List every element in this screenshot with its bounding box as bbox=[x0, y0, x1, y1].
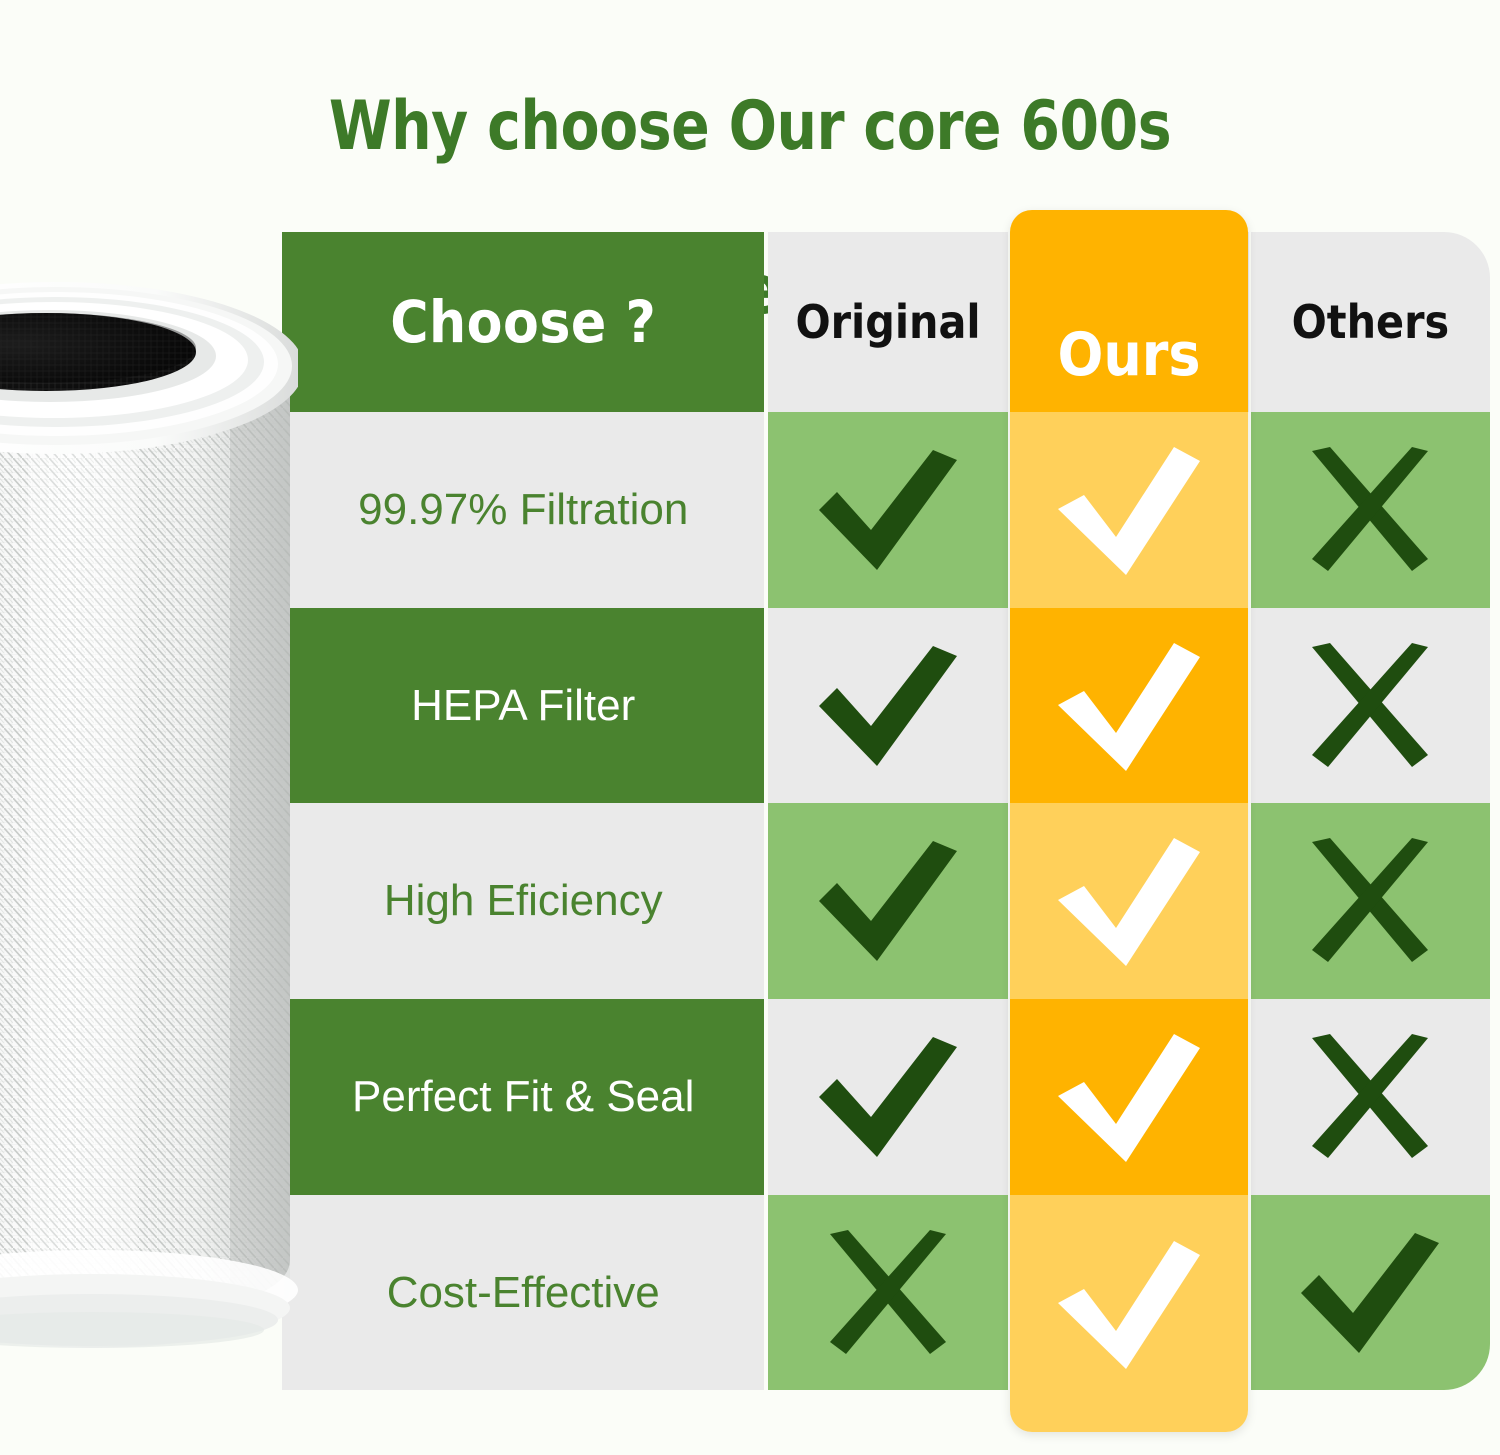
table-row: HEPA Filter bbox=[282, 608, 1490, 803]
check-icon bbox=[1295, 1229, 1445, 1357]
header-label-choose: Choose ? bbox=[390, 288, 656, 356]
check-icon bbox=[813, 642, 963, 770]
cell-others bbox=[1251, 803, 1490, 999]
highlight-column-ours: Ours bbox=[1010, 210, 1248, 1432]
ours-cell bbox=[1010, 608, 1248, 803]
ours-header-cell: Ours bbox=[1010, 210, 1248, 412]
cell-others bbox=[1251, 1195, 1490, 1390]
check-icon bbox=[1054, 834, 1204, 968]
table-row: High Eficiency bbox=[282, 803, 1490, 999]
cross-icon bbox=[1300, 641, 1440, 771]
check-icon bbox=[1054, 1237, 1204, 1371]
check-icon bbox=[1054, 443, 1204, 577]
product-image-hepa-filter bbox=[0, 248, 298, 1396]
header-label-original: Original bbox=[795, 295, 980, 349]
cell-others bbox=[1251, 412, 1490, 608]
cell-others bbox=[1251, 999, 1490, 1195]
table-row: Perfect Fit & Seal bbox=[282, 999, 1490, 1195]
row-label-cell: 99.97% Filtration bbox=[282, 412, 764, 608]
cell-original bbox=[768, 608, 1007, 803]
row-label-cell: Cost-Effective bbox=[282, 1195, 764, 1390]
cross-icon bbox=[1300, 1032, 1440, 1162]
cross-icon bbox=[1300, 445, 1440, 575]
cross-icon bbox=[1300, 836, 1440, 966]
ours-cell bbox=[1010, 999, 1248, 1195]
check-icon bbox=[1054, 639, 1204, 773]
row-label: 99.97% Filtration bbox=[358, 485, 688, 535]
cross-icon bbox=[818, 1228, 958, 1358]
table-row: Cost-Effective bbox=[282, 1195, 1490, 1390]
row-label: Cost-Effective bbox=[387, 1268, 660, 1318]
row-label: HEPA Filter bbox=[411, 681, 635, 731]
table-header-row: Choose ? Original Others bbox=[282, 232, 1490, 412]
ours-cell bbox=[1010, 1195, 1248, 1432]
header-label-others: Others bbox=[1292, 295, 1450, 349]
cell-others bbox=[1251, 608, 1490, 803]
check-icon bbox=[813, 837, 963, 965]
header-cell-others: Others bbox=[1251, 232, 1490, 412]
header-cell-original: Original bbox=[768, 232, 1007, 412]
check-icon bbox=[813, 446, 963, 574]
header-cell-choose: Choose ? bbox=[282, 232, 764, 412]
check-icon bbox=[1054, 1030, 1204, 1164]
ours-cell bbox=[1010, 803, 1248, 999]
row-label: Perfect Fit & Seal bbox=[352, 1072, 694, 1122]
ours-cell bbox=[1010, 412, 1248, 608]
cell-original bbox=[768, 1195, 1007, 1390]
row-label-cell: Perfect Fit & Seal bbox=[282, 999, 764, 1195]
check-icon bbox=[813, 1033, 963, 1161]
cell-original bbox=[768, 999, 1007, 1195]
page-title-line-1: Why choose Our core 600s bbox=[53, 86, 1448, 168]
row-label-cell: High Eficiency bbox=[282, 803, 764, 999]
table-row: 99.97% Filtration bbox=[282, 412, 1490, 608]
row-label: High Eficiency bbox=[384, 876, 663, 926]
ours-header-label: Ours bbox=[1057, 320, 1200, 390]
cell-original bbox=[768, 412, 1007, 608]
row-label-cell: HEPA Filter bbox=[282, 608, 764, 803]
cell-original bbox=[768, 803, 1007, 999]
comparison-table: Choose ? Original Others 99.97% Filtrati… bbox=[282, 232, 1490, 1390]
